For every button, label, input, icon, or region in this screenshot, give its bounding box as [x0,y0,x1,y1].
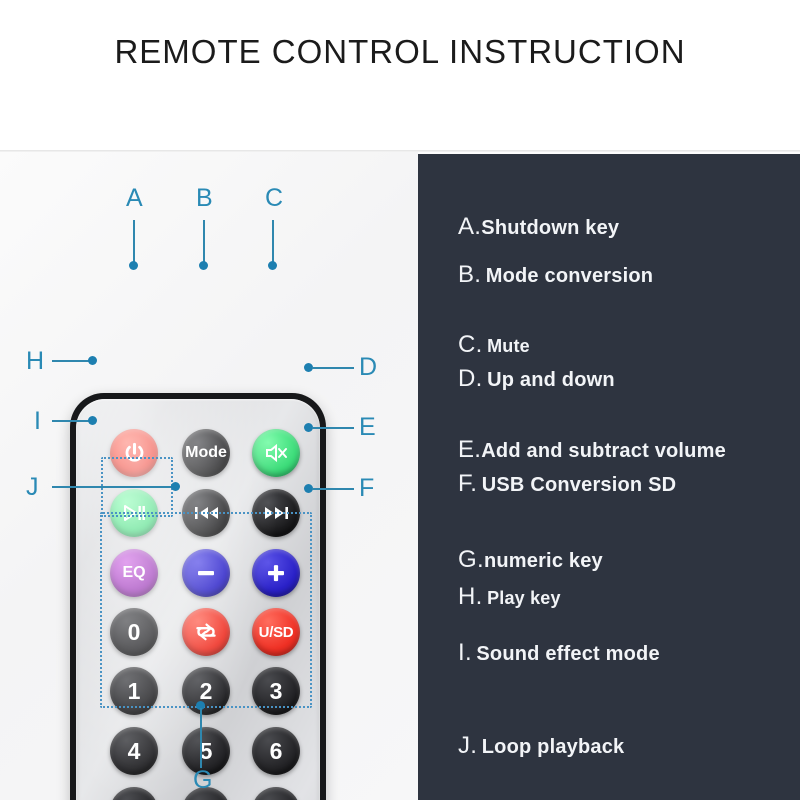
callout-label-e: E [359,415,376,440]
play-pause-button[interactable] [110,489,158,537]
remote-faceplate: Mode [76,399,320,800]
remote-photo-panel: Mode [0,152,418,800]
callout-line-e [312,427,354,429]
callout-label-b: B [196,186,213,211]
legend-letter-b: B. [458,261,481,288]
previous-track-button[interactable] [182,489,230,537]
callout-label-a: A [126,186,143,211]
eq-label: EQ [122,565,145,581]
callout-line-h [52,360,92,362]
legend-letter-h: H. [458,583,483,610]
callout-dot-h [88,356,97,365]
next-track-button[interactable] [252,489,300,537]
volume-down-button[interactable] [182,549,230,597]
digit-2-label: 2 [200,680,213,703]
mute-icon [263,441,289,465]
legend-item-f: F. USB Conversion SD [458,470,676,498]
previous-track-icon [193,504,220,522]
callout-dot-b [199,261,208,270]
mode-button[interactable]: Mode [182,429,230,477]
next-track-icon [263,504,290,522]
digit-6-label: 6 [270,740,283,763]
callout-line-j [52,486,173,488]
legend-letter-e: E. [458,436,481,463]
digit-4-button[interactable]: 4 [110,727,158,775]
legend-list: A.Shutdown key B. Mode conversion C. Mut… [458,154,798,800]
callout-label-c: C [265,186,283,211]
callout-line-b [203,220,205,265]
legend-item-i: I. Sound effect mode [458,639,660,667]
legend-letter-i: I. [458,639,472,666]
digit-4-label: 4 [128,740,141,763]
page-title: REMOTE CONTROL INSTRUCTION [0,33,800,71]
power-button[interactable] [110,429,158,477]
legend-item-c: C. Mute [458,331,530,359]
plus-icon [264,561,288,585]
header-bar: REMOTE CONTROL INSTRUCTION [0,0,800,152]
loop-button[interactable] [182,608,230,656]
legend-item-j: J. Loop playback [458,732,624,760]
power-icon [122,441,147,466]
mute-button[interactable] [252,429,300,477]
callout-dot-j [171,482,180,491]
minus-icon [194,561,218,585]
callout-line-c [272,220,274,265]
digit-9-button[interactable]: 9 [252,787,300,800]
legend-item-e: E.Add and subtract volume [458,436,726,464]
eq-button[interactable]: EQ [110,549,158,597]
mode-label: Mode [185,445,227,461]
legend-text-j: Loop playback [482,736,625,758]
callout-label-f: F [359,476,374,501]
callout-label-j: J [26,475,39,500]
legend-letter-a: A. [458,213,481,240]
legend-text-h: Play key [487,588,561,608]
usd-button[interactable]: U/SD [252,608,300,656]
callout-dot-c [268,261,277,270]
callout-line-a [133,220,135,265]
legend-letter-g: G. [458,546,484,573]
callout-line-i [52,420,92,422]
usd-label: U/SD [259,625,294,640]
legend-item-a: A.Shutdown key [458,213,619,241]
digit-2-button[interactable]: 2 [182,667,230,715]
digit-1-label: 1 [128,680,141,703]
callout-label-h: H [26,349,44,374]
callout-label-i: I [34,409,41,434]
legend-item-b: B. Mode conversion [458,261,653,289]
callout-line-d [312,367,354,369]
digit-0-label: 0 [128,621,141,644]
legend-text-d: Up and down [487,369,615,391]
callout-dot-i [88,416,97,425]
legend-text-i: Sound effect mode [476,643,659,665]
digit-3-button[interactable]: 3 [252,667,300,715]
volume-up-button[interactable] [252,549,300,597]
play-pause-icon [121,503,147,523]
legend-letter-j: J. [458,732,477,759]
callout-label-g: G [193,768,212,793]
digit-0-button[interactable]: 0 [110,608,158,656]
loop-icon [193,620,219,644]
callout-label-d: D [359,355,377,380]
legend-text-e: Add and subtract volume [481,440,726,462]
legend-text-b: Mode conversion [486,265,653,287]
legend-text-g: numeric key [484,550,603,572]
callout-line-f [312,488,354,490]
legend-letter-f: F. [458,470,477,497]
legend-item-d: D. Up and down [458,365,615,393]
legend-text-f: USB Conversion SD [482,474,677,496]
digit-7-button[interactable]: 7 [110,787,158,800]
instruction-legend-panel: A.Shutdown key B. Mode conversion C. Mut… [418,154,800,800]
callout-line-g [200,708,202,768]
digit-6-button[interactable]: 6 [252,727,300,775]
legend-item-g: G.numeric key [458,546,603,574]
remote-control-device: Mode [70,393,326,800]
legend-text-a: Shutdown key [481,217,619,239]
callout-dot-a [129,261,138,270]
page-root: REMOTE CONTROL INSTRUCTION Mode [0,0,800,800]
legend-text-c: Mute [487,336,530,356]
legend-letter-d: D. [458,365,483,392]
digit-3-label: 3 [270,680,283,703]
digit-1-button[interactable]: 1 [110,667,158,715]
legend-letter-c: C. [458,331,483,358]
legend-item-h: H. Play key [458,583,561,611]
